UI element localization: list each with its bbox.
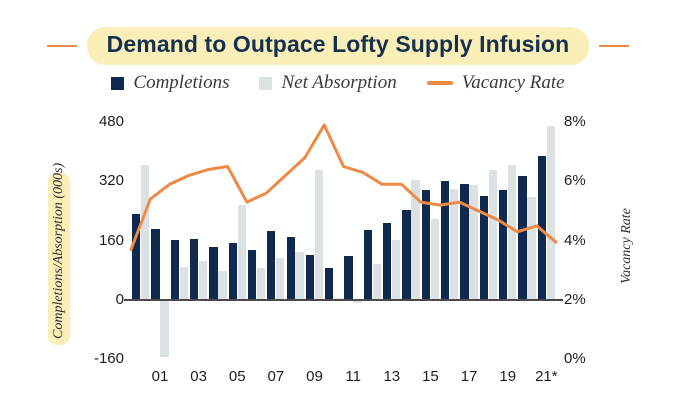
x-axis-tick: 01	[138, 368, 182, 385]
x-axis-tick: 21*	[524, 368, 568, 385]
x-axis-tick: 09	[293, 368, 337, 385]
chart-page: Demand to Outpace Lofty Supply Infusion …	[0, 0, 676, 414]
x-axis-tick: 17	[447, 368, 491, 385]
x-axis-tick: 03	[177, 368, 221, 385]
x-axis-tick: 11	[331, 368, 375, 385]
x-axis-tick: 15	[408, 368, 452, 385]
x-axis-tick: 05	[215, 368, 259, 385]
x-axis-tick: 19	[486, 368, 530, 385]
vacancy-rate-line	[131, 125, 556, 250]
x-axis-tick: 13	[370, 368, 414, 385]
x-axis-tick: 07	[254, 368, 298, 385]
vacancy-rate-line-layer	[0, 0, 676, 414]
